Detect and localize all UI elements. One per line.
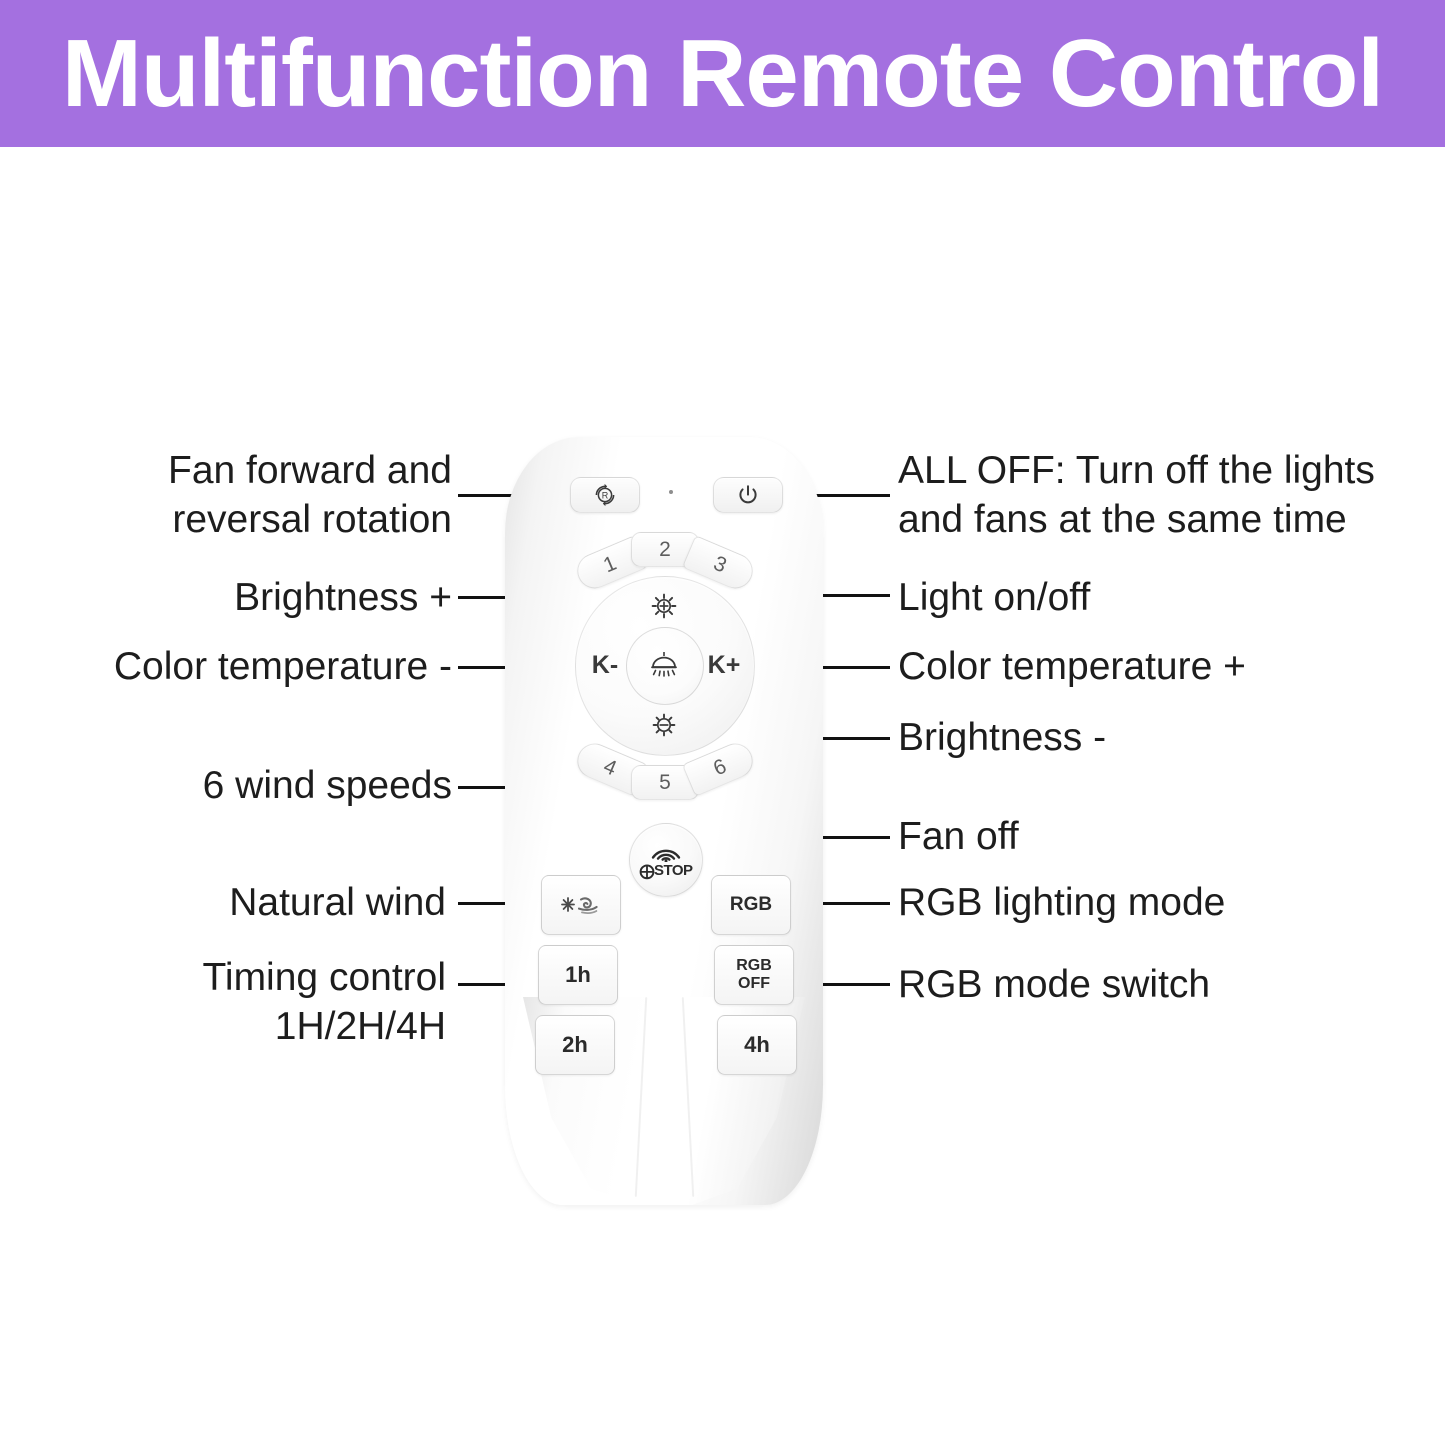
label-natural-wind: Natural wind bbox=[150, 878, 446, 927]
fan-speed-3-label: 3 bbox=[710, 551, 730, 578]
fan-speed-6-label: 6 bbox=[710, 754, 730, 781]
svg-text:R: R bbox=[602, 491, 609, 501]
brightness-down-button[interactable] bbox=[645, 706, 683, 744]
label-fan-rotation: Fan forward and reversal rotation bbox=[140, 446, 452, 544]
power-icon bbox=[736, 483, 760, 507]
leader-rgb-mode-switch bbox=[815, 983, 890, 986]
rgb-mode-button[interactable]: RGB bbox=[711, 875, 791, 935]
ir-led-indicator bbox=[669, 490, 673, 494]
timer-2h-button[interactable]: 2h bbox=[535, 1015, 615, 1075]
timer-2h-label: 2h bbox=[562, 1032, 588, 1058]
brightness-plus-icon bbox=[649, 591, 679, 621]
snowflake-breeze-icon bbox=[557, 892, 605, 918]
header-banner: Multifunction Remote Control bbox=[0, 0, 1445, 147]
fan-off-stop-text: STOP bbox=[654, 862, 693, 879]
label-rgb-mode-switch: RGB mode switch bbox=[898, 960, 1328, 1009]
remote-control-device: R 1 2 3 4 bbox=[505, 437, 823, 1205]
timer-1h-label: 1h bbox=[565, 962, 591, 988]
fan-stop-waves-icon bbox=[648, 842, 684, 862]
label-brightness-down: Brightness - bbox=[898, 713, 1298, 762]
fan-speed-4-label: 4 bbox=[600, 754, 620, 781]
color-temp-down-label: K- bbox=[592, 651, 618, 680]
fan-off-label: ⨁STOP bbox=[639, 861, 692, 879]
light-toggle-button[interactable] bbox=[643, 645, 685, 687]
rgb-off-label: RGB OFF bbox=[736, 957, 772, 993]
label-wind-speeds: 6 wind speeds bbox=[150, 761, 452, 810]
fan-speed-5-label: 5 bbox=[659, 771, 671, 795]
fan-speed-1-label: 1 bbox=[600, 551, 620, 578]
brightness-up-button[interactable] bbox=[645, 587, 683, 625]
brightness-minus-icon bbox=[649, 710, 679, 740]
label-color-temp-down: Color temperature - bbox=[80, 642, 452, 691]
color-temp-up-button[interactable]: K+ bbox=[704, 646, 744, 684]
label-brightness-up: Brightness + bbox=[150, 573, 452, 622]
rgb-off-button[interactable]: RGB OFF bbox=[714, 945, 794, 1005]
fan-off-button[interactable]: ⨁STOP bbox=[629, 823, 703, 897]
ceiling-lamp-icon bbox=[646, 648, 682, 684]
label-fan-off: Fan off bbox=[898, 812, 1298, 861]
rgb-off-label-line2: OFF bbox=[738, 975, 770, 993]
page-root: Multifunction Remote Control Fan forward… bbox=[0, 0, 1445, 1445]
label-color-temp-up: Color temperature + bbox=[898, 642, 1368, 691]
natural-wind-button[interactable] bbox=[541, 875, 621, 935]
rgb-off-label-line1: RGB bbox=[736, 957, 772, 975]
fan-reverse-button[interactable]: R bbox=[570, 477, 640, 513]
timer-4h-button[interactable]: 4h bbox=[717, 1015, 797, 1075]
color-temp-down-button[interactable]: K- bbox=[585, 646, 625, 684]
label-rgb-lighting-mode: RGB lighting mode bbox=[898, 878, 1328, 927]
fan-speed-2-label: 2 bbox=[659, 538, 671, 562]
color-temp-up-label: K+ bbox=[708, 651, 741, 680]
rotation-reverse-icon: R bbox=[592, 482, 618, 508]
timer-1h-button[interactable]: 1h bbox=[538, 945, 618, 1005]
page-title: Multifunction Remote Control bbox=[62, 26, 1383, 122]
label-all-off: ALL OFF: Turn off the lights and fans at… bbox=[898, 446, 1443, 544]
label-timing-control: Timing control 1H/2H/4H bbox=[130, 953, 446, 1051]
rgb-mode-label: RGB bbox=[730, 894, 772, 916]
leader-rgb-lighting-mode bbox=[812, 902, 890, 905]
timer-4h-label: 4h bbox=[744, 1032, 770, 1058]
all-off-power-button[interactable] bbox=[713, 477, 783, 513]
label-light-on-off: Light on/off bbox=[898, 573, 1298, 622]
